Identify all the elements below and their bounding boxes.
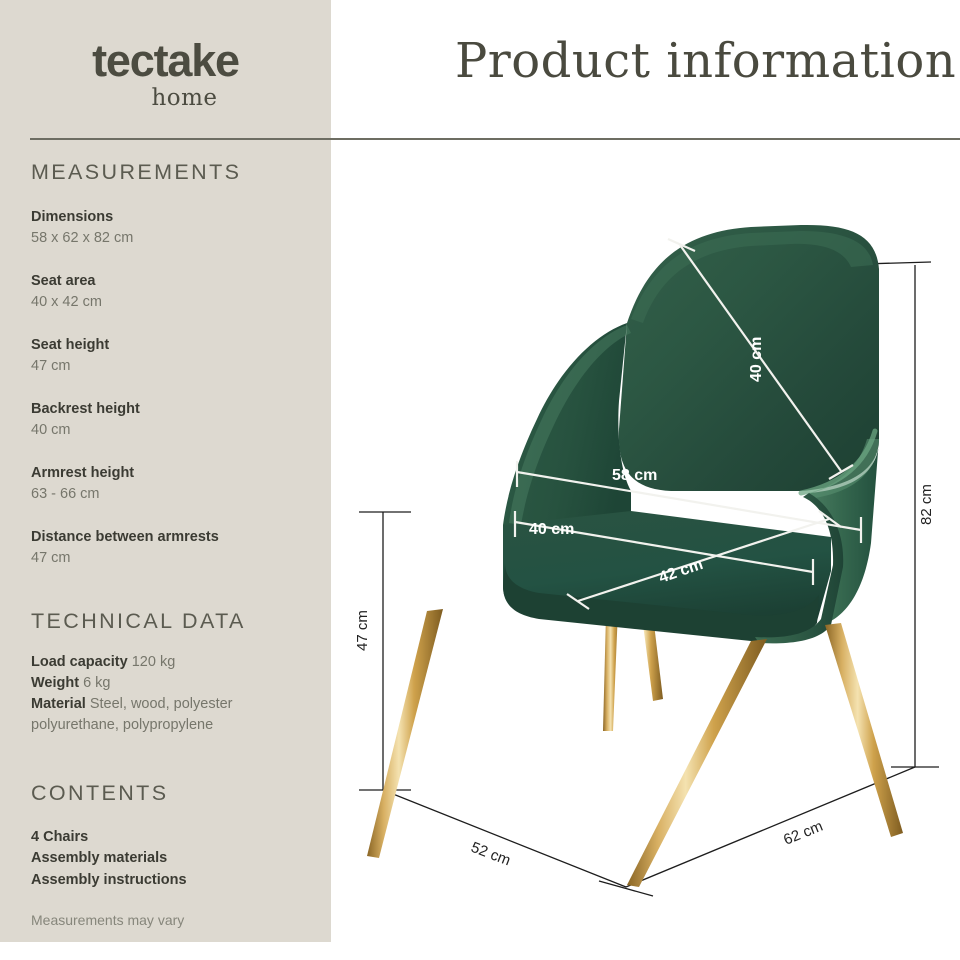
technical-data-list: Load capacity 120 kg Weight 6 kg Materia… bbox=[31, 652, 311, 736]
measurement-label: Backrest height bbox=[31, 399, 140, 420]
contents-item: Assembly instructions bbox=[31, 870, 187, 891]
chair-leg-back-right-long bbox=[825, 623, 903, 837]
tech-value: polyurethane, polypropylene bbox=[31, 717, 213, 733]
brand-logo: tectake home bbox=[0, 38, 331, 110]
measurement-item-dimensions: Dimensions 58 x 62 x 82 cm bbox=[31, 207, 133, 248]
measurement-value: 40 x 42 cm bbox=[31, 292, 102, 313]
measurement-label: Dimensions bbox=[31, 207, 133, 228]
label-seat-height: 47 cm bbox=[354, 610, 371, 651]
tech-label: Weight bbox=[31, 675, 79, 691]
measurements-heading: MEASUREMENTS bbox=[31, 160, 241, 185]
contents-item: Assembly materials bbox=[31, 848, 187, 869]
measurement-label: Distance between armrests bbox=[31, 527, 219, 548]
contents-heading: CONTENTS bbox=[31, 781, 168, 806]
measurement-item-backrest-height: Backrest height 40 cm bbox=[31, 399, 140, 440]
measurement-value: 58 x 62 x 82 cm bbox=[31, 228, 133, 249]
contents-item: 4 Chairs bbox=[31, 827, 187, 848]
measurement-value: 47 cm bbox=[31, 548, 219, 569]
brand-name: tectake bbox=[0, 38, 331, 83]
tech-label: Material bbox=[31, 696, 86, 712]
measurement-item-seat-height: Seat height 47 cm bbox=[31, 335, 109, 376]
label-base-width: 52 cm bbox=[469, 839, 513, 870]
label-base-depth: 62 cm bbox=[781, 818, 825, 849]
tech-value: 120 kg bbox=[132, 654, 176, 670]
chair-diagram: 58 cm 40 cm 42 cm 40 cm 47 cm 82 cm 52 c… bbox=[331, 139, 960, 960]
label-backrest-height: 40 cm bbox=[748, 337, 765, 382]
page-title: Product information bbox=[455, 33, 956, 89]
tech-row-material: Material Steel, wood, polyester bbox=[31, 694, 311, 715]
tech-value: 6 kg bbox=[83, 675, 110, 691]
tech-row-load-capacity: Load capacity 120 kg bbox=[31, 652, 311, 673]
chair-leg-front-left bbox=[367, 609, 443, 858]
chair-illustration: 58 cm 40 cm 42 cm 40 cm 47 cm 82 cm 52 c… bbox=[331, 139, 960, 960]
measurement-item-armrest-height: Armrest height 63 - 66 cm bbox=[31, 463, 134, 504]
sidebar-panel: tectake home MEASUREMENTS Dimensions 58 … bbox=[0, 0, 331, 942]
measurement-item-armrest-distance: Distance between armrests 47 cm bbox=[31, 527, 219, 568]
product-information-sheet: tectake home MEASUREMENTS Dimensions 58 … bbox=[0, 0, 960, 960]
tech-row-material-cont: polyurethane, polypropylene bbox=[31, 715, 311, 736]
label-seat-width: 58 cm bbox=[612, 467, 657, 484]
measurement-label: Seat height bbox=[31, 335, 109, 356]
measurement-label: Armrest height bbox=[31, 463, 134, 484]
tech-value: Steel, wood, polyester bbox=[90, 696, 233, 712]
label-seat-area-width: 40 cm bbox=[529, 521, 574, 538]
measurement-label: Seat area bbox=[31, 271, 102, 292]
contents-list: 4 Chairs Assembly materials Assembly ins… bbox=[31, 827, 187, 891]
disclaimer-text: Measurements may vary bbox=[31, 912, 184, 928]
brand-subname: home bbox=[0, 87, 331, 110]
label-total-height: 82 cm bbox=[918, 484, 935, 525]
chair-leg-front-right bbox=[627, 639, 767, 887]
tech-row-weight: Weight 6 kg bbox=[31, 673, 311, 694]
chair-body bbox=[367, 225, 903, 887]
tech-label: Load capacity bbox=[31, 654, 128, 670]
measurement-value: 47 cm bbox=[31, 356, 109, 377]
measurement-value: 63 - 66 cm bbox=[31, 484, 134, 505]
technical-data-heading: TECHNICAL DATA bbox=[31, 609, 246, 634]
measurement-item-seat-area: Seat area 40 x 42 cm bbox=[31, 271, 102, 312]
measurement-value: 40 cm bbox=[31, 420, 140, 441]
